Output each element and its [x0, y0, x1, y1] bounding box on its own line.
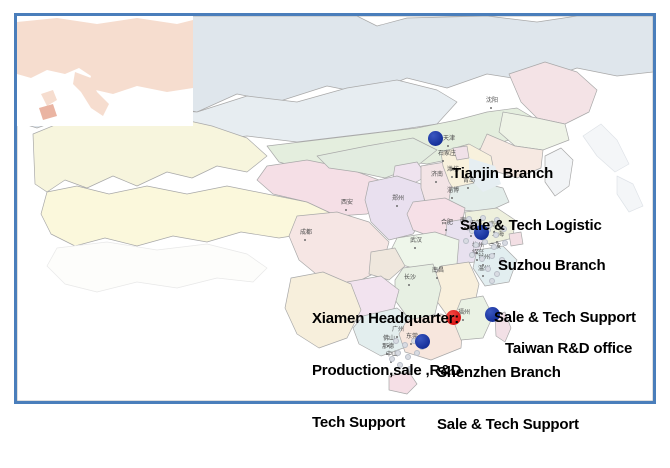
city-label: 西安 — [341, 200, 353, 206]
city-marker-dot — [490, 107, 492, 109]
map-figure: 沈阳天津石家庄济南青岛潍坊淄博西安郑州成都武汉合肥南京苏州上海无锡常州南通温州台… — [0, 0, 670, 416]
callout-shenzhen-line2: Sale & Tech Support — [437, 416, 579, 433]
city-marker-dot — [396, 205, 398, 207]
city-marker-dot — [482, 275, 484, 277]
city-marker-dot — [435, 181, 437, 183]
city-label: 武汉 — [410, 238, 422, 244]
callout-tianjin-line1: Tianjin Branch — [452, 165, 602, 182]
callout-suzhou-line1: Suzhou Branch — [498, 257, 636, 274]
callout-shenzhen: Shenzhen Branch Sale & Tech Support — [437, 329, 579, 468]
city-marker-dot — [445, 229, 447, 231]
city-label: 成都 — [300, 230, 312, 236]
city-marker-dot — [345, 209, 347, 211]
city-label: 济南 — [431, 172, 443, 178]
city-marker-dot — [462, 319, 464, 321]
city-label: 郑州 — [392, 196, 404, 202]
city-marker-dot — [414, 247, 416, 249]
callout-shenzhen-line1: Shenzhen Branch — [437, 364, 579, 381]
map-inset-panel — [17, 16, 193, 126]
city-marker-dot — [447, 145, 449, 147]
city-label: 沈阳 — [486, 98, 498, 104]
city-label: 南昌 — [432, 268, 444, 274]
callout-xiamen-line1: Xiamen Headquarter: — [312, 310, 461, 327]
city-marker-dot — [304, 239, 306, 241]
marker-tianjin[interactable] — [428, 131, 443, 146]
city-marker-dot — [442, 160, 444, 162]
